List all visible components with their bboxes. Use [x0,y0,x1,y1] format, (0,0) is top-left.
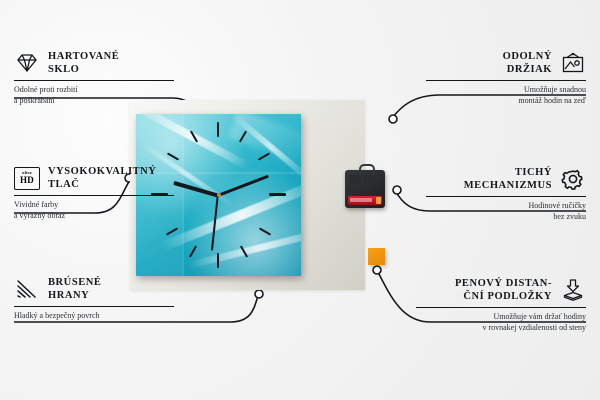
mechanism-detail [349,175,361,184]
glass-seam-vertical [182,114,184,276]
feature-description: Umožňuje vám držať hodiny v rovnakej vzd… [416,312,586,333]
ultra-hd-icon: ultra HD [14,167,40,190]
press-down-icon [560,279,586,301]
feature-title: BRÚSENÉ HRANY [48,276,101,302]
feature-description: Hodinové ručičky bez zvuku [426,201,586,222]
feature-silent-mechanism: TICHÝ MECHANIZMUS Hodinové ručičky bez z… [426,166,586,222]
feature-title: HARTOVANÉ SKLO [48,50,119,76]
feature-description: Vividné farby a výrazný obraz [14,200,174,221]
clock-tick-6 [217,253,219,268]
feature-foam-spacers: PENOVÝ DISTAN- ČNÍ PODLOŽKY Umožňuje vám… [416,277,586,333]
infographic-canvas: HARTOVANÉ SKLO Odolné proti rozbití a po… [0,0,600,400]
gear-icon [560,168,586,190]
feature-ground-edges: BRÚSENÉ HRANY Hladký a bezpečný povrch [14,276,174,322]
mechanism-detail [349,186,358,193]
foam-spacer-pad [368,248,385,265]
battery-label [350,198,372,202]
divider [14,306,174,307]
connector-dot-edges [255,290,263,298]
divider [14,80,174,81]
feature-title: ODOLNÝ DRŽIAK [503,50,552,76]
connector-dot-mechanism [393,186,401,194]
clock-tick-3 [269,193,286,196]
clock-mechanism [345,170,385,208]
clock-tick-4 [259,227,271,235]
feature-description: Hladký a bezpečný povrch [14,311,174,322]
feature-description: Umožňuje snadnou montáž hodin na zeď [426,85,586,106]
divider [426,196,586,197]
clock-tick-12 [217,122,219,137]
feature-title: VYSOKOKVALITNÝ TLAČ [48,165,156,191]
divider [14,195,174,196]
feature-description: Odolné proti rozbití a poškrábání [14,85,174,106]
divider [416,307,586,308]
feature-hardened-glass: HARTOVANÉ SKLO Odolné proti rozbití a po… [14,50,174,106]
feature-high-quality-print: ultra HD VYSOKOKVALITNÝ TLAČ Vividné far… [14,165,174,221]
clock-hand-minute [217,175,269,198]
connector-dot-foam [373,266,381,274]
feature-title: PENOVÝ DISTAN- ČNÍ PODLOŽKY [455,277,552,303]
mechanism-hook-icon [359,164,375,175]
battery-terminal [376,197,381,204]
connector-dot-hanger [389,115,397,123]
clock-center-pin [217,193,221,197]
battery [348,196,382,205]
feature-durable-hanger: ODOLNÝ DRŽIAK Umožňuje snadnou montáž h [426,50,586,106]
divider [426,80,586,81]
hatch-lines-icon [14,278,40,300]
clock-tick-2 [258,152,270,160]
feature-title: TICHÝ MECHANIZMUS [464,166,552,192]
diamond-icon [14,52,40,74]
mechanism-detail [364,175,373,184]
picture-frame-icon [560,52,586,74]
clock-tick-7 [189,245,197,257]
